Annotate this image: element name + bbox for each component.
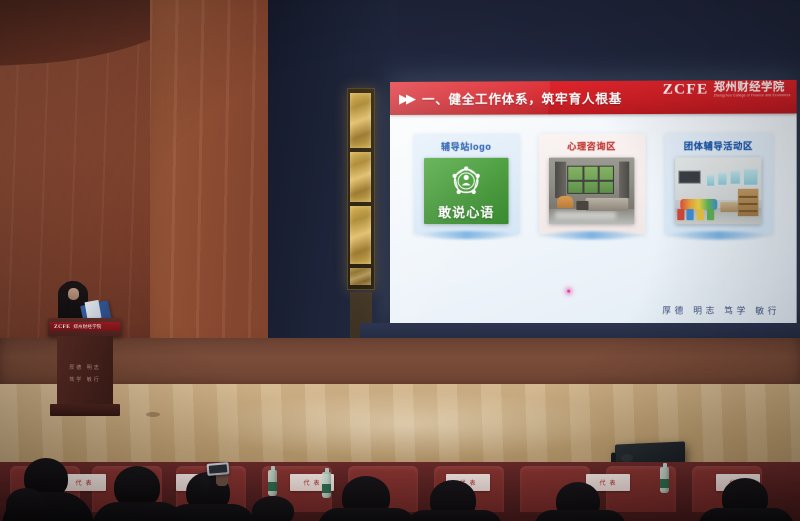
smartphone-camera (207, 462, 230, 476)
seat-name-card: 代 表 (62, 474, 106, 491)
counseling-station-emblem-icon (449, 164, 483, 198)
laser-pointer-dot (567, 290, 570, 293)
audience-shoulders (534, 510, 626, 521)
slide-footer-motto: 厚德 明志 笃学 敏行 (662, 304, 780, 317)
logo-image: 敢说心语 (424, 158, 508, 224)
stage-floor-mark (146, 412, 160, 417)
lectern-motto-line1: 厚德 明志 (57, 364, 113, 373)
golden-backlit-wall-strip (347, 88, 375, 290)
logo-name-en: Zhengzhou College of Finance and Economi… (714, 94, 791, 98)
lectern-abbreviation: ZCFE (54, 324, 70, 330)
panel-label-counselling: 心理咨询区 (538, 139, 645, 152)
lectern-base (50, 404, 120, 416)
logo-name-cn: 郑州财经学院 (714, 82, 791, 94)
group-activity-room-photo (675, 157, 761, 224)
projection-screen: ▶▶ 一、健全工作体系，筑牢育人根基 ZCFE 郑州财经学院 Zhengzhou… (390, 80, 797, 328)
audience-head (6, 488, 46, 521)
lectern-name-cn: 郑州财经学院 (73, 324, 101, 330)
audience-shoulders (164, 504, 256, 521)
audience-area: 代 表 代 表 代 表 代 表 代 表 代 表 (0, 452, 800, 521)
audience-shoulders (318, 508, 416, 521)
lectern: ZCFE 郑州财经学院 厚德 明志 笃学 敏行 (48, 318, 122, 418)
navy-wall-column (268, 0, 398, 360)
audience-head (252, 496, 294, 521)
logo-slogan-text: 敢说心语 (424, 202, 508, 221)
slide-heading: 一、健全工作体系，筑牢育人根基 (422, 88, 622, 108)
slide-panel-group-activity: 团体辅导活动区 (664, 133, 772, 235)
lectern-body: 厚德 明志 笃学 敏行 (57, 336, 113, 404)
audience-shoulders (406, 510, 502, 521)
institution-logo: ZCFE 郑州财经学院 Zhengzhou College of Finance… (663, 81, 791, 99)
stage-floor-glare (200, 390, 620, 460)
counselling-room-photo (549, 158, 634, 225)
water-bottle (322, 472, 331, 498)
logo-abbreviation: ZCFE (663, 81, 709, 98)
slide-panel-row: 辅导站logo (390, 133, 797, 296)
lectern-nameplate: ZCFE 郑州财经学院 (50, 322, 120, 331)
presenter-face (68, 288, 79, 300)
water-bottle (660, 467, 669, 493)
water-bottle (268, 470, 277, 496)
slide-panel-counselling: 心理咨询区 (538, 133, 645, 234)
double-right-arrow-icon: ▶▶ (399, 92, 413, 105)
slide-title-bar: ▶▶ 一、健全工作体系，筑牢育人根基 ZCFE 郑州财经学院 Zhengzhou… (390, 80, 797, 115)
audience-shoulders (698, 508, 794, 521)
panel-label-logo: 辅导站logo (414, 140, 520, 153)
lectern-motto-line2: 笃学 敏行 (57, 376, 113, 385)
auditorium-presentation-photo: ▶▶ 一、健全工作体系，筑牢育人根基 ZCFE 郑州财经学院 Zhengzhou… (0, 0, 800, 521)
panel-label-group-activity: 团体辅导活动区 (664, 139, 772, 152)
presentation-slide: ▶▶ 一、健全工作体系，筑牢育人根基 ZCFE 郑州财经学院 Zhengzhou… (390, 80, 797, 328)
slide-panel-logo: 辅导站logo (414, 134, 520, 235)
